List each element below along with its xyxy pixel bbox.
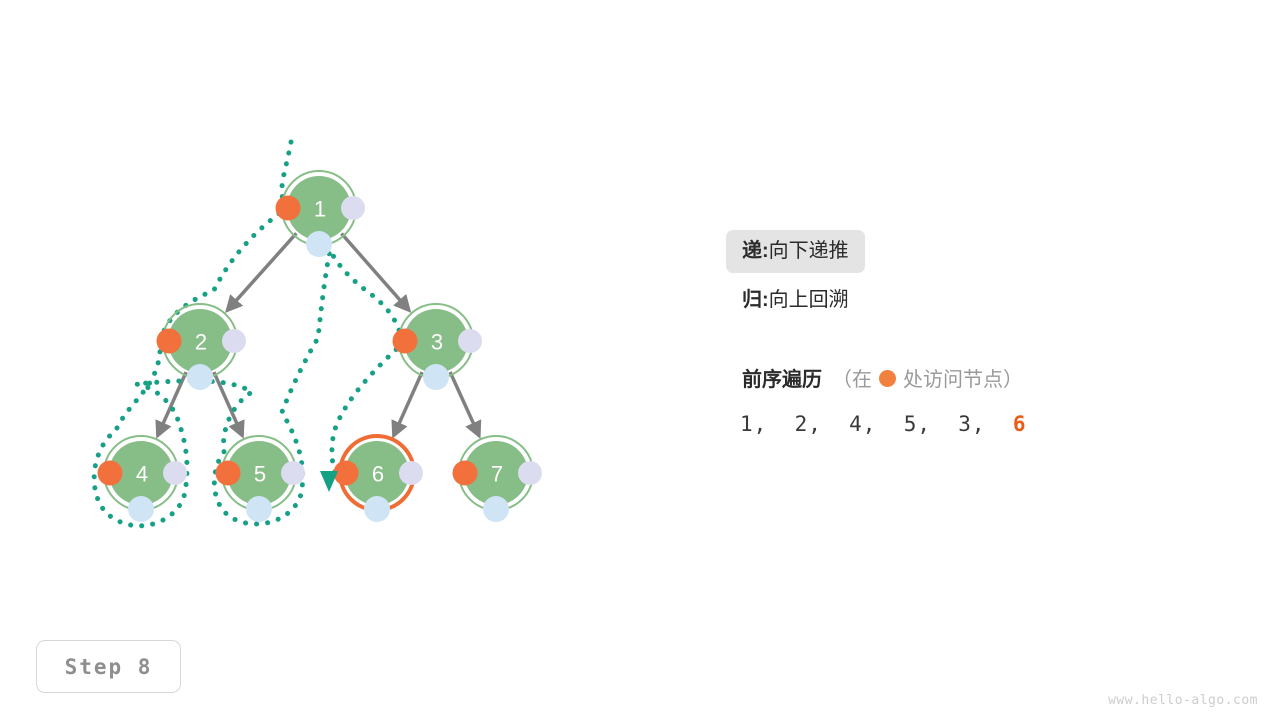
node-bottom-dot [187,364,213,390]
legend-key-recurse: 递: [742,240,769,262]
binary-tree-diagram: 1234567 [0,0,640,600]
node-label: 3 [431,330,443,355]
visit-marker-icon [879,370,896,387]
node-bottom-dot [423,364,449,390]
node-visit-dot [393,329,418,354]
node-visit-dot [334,461,359,486]
node-bottom-dot [128,496,154,522]
node-label: 1 [314,197,326,222]
node-visit-dot [453,461,478,486]
traversal-sequence-done: 1, 2, 4, 5, 3, [740,412,1013,436]
tree-edge [341,234,408,311]
tree-node-2[interactable]: 2 [157,304,247,390]
legend-badge-recurse: 递:向下递推 [726,230,865,273]
node-label: 7 [491,462,503,487]
info-panel: 递:向下递推 归:向上回溯 前序遍历 （在 处访问节点） 1, 2, 4, 5,… [726,230,1246,322]
tree-edge [450,372,479,436]
current-node-pointer [320,471,338,492]
node-label: 5 [254,462,266,487]
node-right-dot [458,329,482,353]
node-visit-dot [98,461,123,486]
legend-row-backtrack: 归:向上回溯 [726,279,1246,322]
node-bottom-dot [364,496,390,522]
step-badge: Step 8 [36,640,181,693]
tree-node-4[interactable]: 4 [98,436,188,522]
traversal-note-close: 处访问节点） [903,363,1023,392]
tree-node-6[interactable]: 6 [334,436,424,522]
tree-edge [214,372,242,436]
traversal-name: 前序遍历 [742,363,822,392]
node-right-dot [518,461,542,485]
node-label: 2 [195,330,207,355]
node-visit-dot [216,461,241,486]
legend-value-backtrack: 向上回溯 [769,289,849,311]
tree-edge [158,372,186,436]
node-right-dot [163,461,187,485]
node-right-dot [281,461,305,485]
legend-key-backtrack: 归: [742,289,769,311]
legend-row-recurse: 递:向下递推 [726,230,1246,273]
traversal-title: 前序遍历 （在 处访问节点） [742,363,1023,392]
legend-value-recurse: 向下递推 [769,240,849,262]
node-bottom-dot [246,496,272,522]
tree-edge [227,233,296,310]
node-right-dot [341,196,365,220]
tree-node-5[interactable]: 5 [216,436,306,522]
node-visit-dot [276,196,301,221]
node-bottom-dot [306,231,332,257]
traversal-note-open: （在 [832,363,872,392]
tree-edge [394,372,422,436]
node-label: 6 [372,462,384,487]
tree-node-7[interactable]: 7 [453,436,543,522]
node-bottom-dot [483,496,509,522]
node-layer: 1234567 [98,171,543,522]
animation-canvas: 1234567 递:向下递推 归:向上回溯 前序遍历 （在 处访问节点） 1, … [0,0,1280,720]
traversal-sequence: 1, 2, 4, 5, 3, 6 [740,412,1027,436]
tree-node-3[interactable]: 3 [393,304,483,390]
legend-plain-backtrack: 归:向上回溯 [726,279,865,322]
node-right-dot [399,461,423,485]
watermark: www.hello-algo.com [1108,693,1258,708]
node-label: 4 [136,462,148,487]
node-right-dot [222,329,246,353]
traversal-sequence-current: 6 [1013,412,1027,436]
node-visit-dot [157,329,182,354]
